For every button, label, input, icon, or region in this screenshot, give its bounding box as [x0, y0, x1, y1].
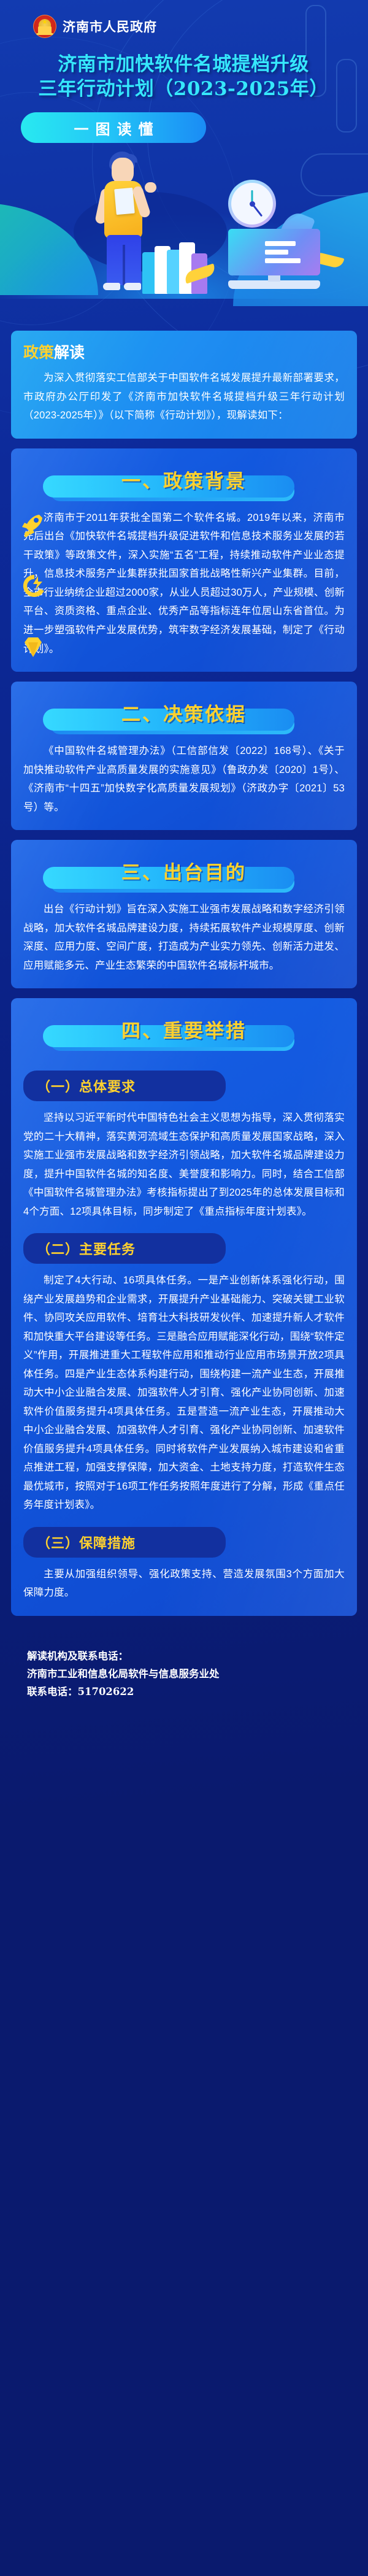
- page-title: 济南市加快软件名城提档升级 三年行动计划（2023-2025年）: [0, 53, 368, 101]
- hero-illustration: [0, 147, 368, 331]
- section-body-policy-background: 济南市于2011年获批全国第二个软件名城。2019年以来，济南市先后出台《加快软…: [23, 509, 345, 658]
- read-badge: 一图读懂: [21, 112, 206, 143]
- footer-contact-label: 解读机构及联系电话：: [27, 1648, 357, 1666]
- books-icon: [142, 239, 210, 294]
- rocket-icon: [20, 511, 47, 538]
- clock-icon: [228, 180, 276, 228]
- subsection-heading-main-tasks: （二）主要任务: [23, 1233, 226, 1264]
- subsection-heading-overall-requirements: （一）总体要求: [23, 1071, 226, 1101]
- read-badge-label: 一图读懂: [67, 117, 160, 139]
- section-key-measures: 四、重要举措 （一）总体要求 坚持以习近平新时代中国特色社会主义思想为指导，深入…: [11, 998, 357, 1616]
- section-heading-text: 一、政策背景: [23, 466, 345, 493]
- policy-interpretation-body: 为深入贯彻落实工信部关于中国软件名城发展提升最新部署要求，市政府办公厅印发了《济…: [23, 369, 345, 425]
- subsection-body-overall-requirements: 坚持以习近平新时代中国特色社会主义思想为指导，深入贯彻落实党的二十大精神，落实黄…: [23, 1109, 345, 1221]
- page-header: ★ 济南市人民政府 济南市加快软件名城提档升级 三年行动计划（2023-2025…: [0, 0, 368, 143]
- government-name: 济南市人民政府: [63, 17, 157, 36]
- section-heading-text: 二、决策依据: [23, 699, 345, 726]
- section-heading-banner: 四、重要举措: [23, 1013, 345, 1053]
- section-icon-column: [20, 511, 52, 672]
- government-brand: ★ 济南市人民政府: [0, 15, 368, 38]
- page-title-line-2: 三年行动计划（2023-2025年）: [17, 77, 350, 102]
- subsection-body-main-tasks: 制定了4大行动、16项具体任务。一是产业创新体系强化行动，围绕产业发展趋势和企业…: [23, 1271, 345, 1515]
- lightning-icon: [20, 572, 47, 599]
- section-policy-background: 一、政策背景 济南市于2011年获批全国第二个软件名城。2019年以来，济南市先…: [11, 448, 357, 672]
- national-emblem-icon: ★: [33, 15, 56, 38]
- section-heading-banner: 三、出台目的: [23, 855, 345, 895]
- section-body-purpose: 出台《行动计划》旨在深入实施工业强市发展战略和数字经济引领战略，加大软件名城品牌…: [23, 900, 345, 975]
- infographic-page: ★ 济南市人民政府 济南市加快软件名城提档升级 三年行动计划（2023-2025…: [0, 0, 368, 2576]
- section-purpose: 三、出台目的 出台《行动计划》旨在深入实施工业强市发展战略和数字经济引领战略，加…: [11, 840, 357, 988]
- section-heading-text: 四、重要举措: [23, 1015, 345, 1043]
- section-heading-text: 三、出台目的: [23, 857, 345, 885]
- subsection-heading-safeguards: （三）保障措施: [23, 1527, 226, 1558]
- page-title-line-1: 济南市加快软件名城提档升级: [17, 53, 350, 77]
- policy-interpretation-card: 政策解读 为深入贯彻落实工信部关于中国软件名城发展提升最新部署要求，市政府办公厅…: [11, 331, 357, 439]
- section-heading-banner: 二、决策依据: [23, 696, 345, 737]
- footer-contact-phone: 联系电话：51702622: [27, 1683, 357, 1701]
- section-body-decision-basis: 《中国软件名城管理办法》（工信部信发〔2022〕168号）、《关于加快推动软件产…: [23, 742, 345, 817]
- footer-contact-department: 济南市工业和信息化局软件与信息服务业处: [27, 1666, 357, 1683]
- footer-contact: 解读机构及联系电话： 济南市工业和信息化局软件与信息服务业处 联系电话：5170…: [0, 1626, 368, 1738]
- policy-interpretation-title-white: 解读: [54, 344, 85, 361]
- policy-interpretation-title: 政策解读: [23, 340, 345, 363]
- subsection-body-safeguards: 主要从加强组织领导、强化政策支持、营造发展氛围3个方面加大保障力度。: [23, 1565, 345, 1602]
- diamond-icon: [20, 634, 47, 661]
- policy-interpretation-title-yellow: 政策: [23, 344, 54, 361]
- section-decision-basis: 二、决策依据 《中国软件名城管理办法》（工信部信发〔2022〕168号）、《关于…: [11, 682, 357, 830]
- section-heading-banner: 一、政策背景: [23, 463, 345, 504]
- monitor-icon: [228, 229, 320, 293]
